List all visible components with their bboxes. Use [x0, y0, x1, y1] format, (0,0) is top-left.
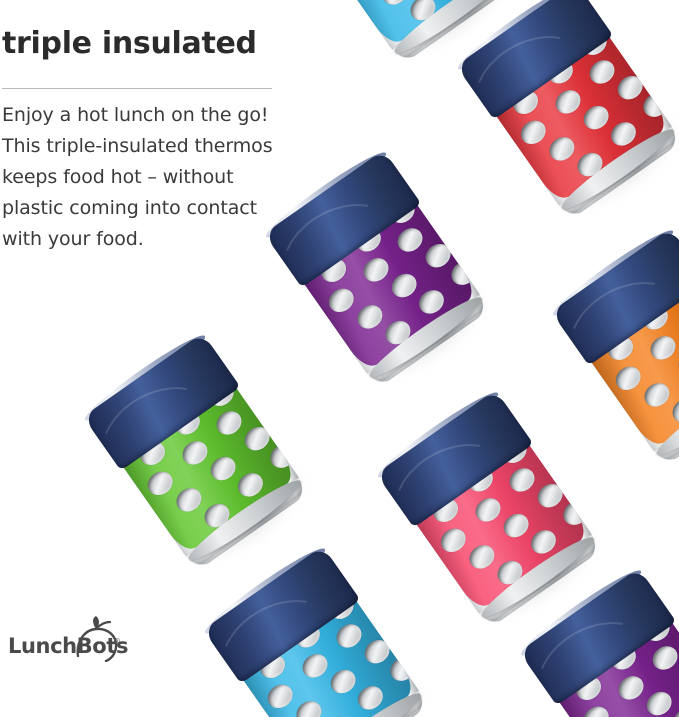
body-copy: Enjoy a hot lunch on the go! This triple… — [2, 100, 294, 255]
thermos-product — [262, 149, 497, 396]
registered-trademark-icon: ® — [113, 637, 121, 646]
thermos-product — [81, 332, 316, 579]
page-title: triple insulated — [2, 26, 257, 61]
thermos-product — [549, 227, 679, 474]
thermos-product — [374, 389, 609, 636]
brand-logo: LunchBots ® — [8, 636, 128, 657]
title-divider — [2, 88, 272, 89]
product-marketing-image: triple insulated Enjoy a hot lunch on th… — [0, 0, 679, 717]
thermos-product — [201, 545, 436, 717]
thermos-product — [454, 0, 679, 227]
